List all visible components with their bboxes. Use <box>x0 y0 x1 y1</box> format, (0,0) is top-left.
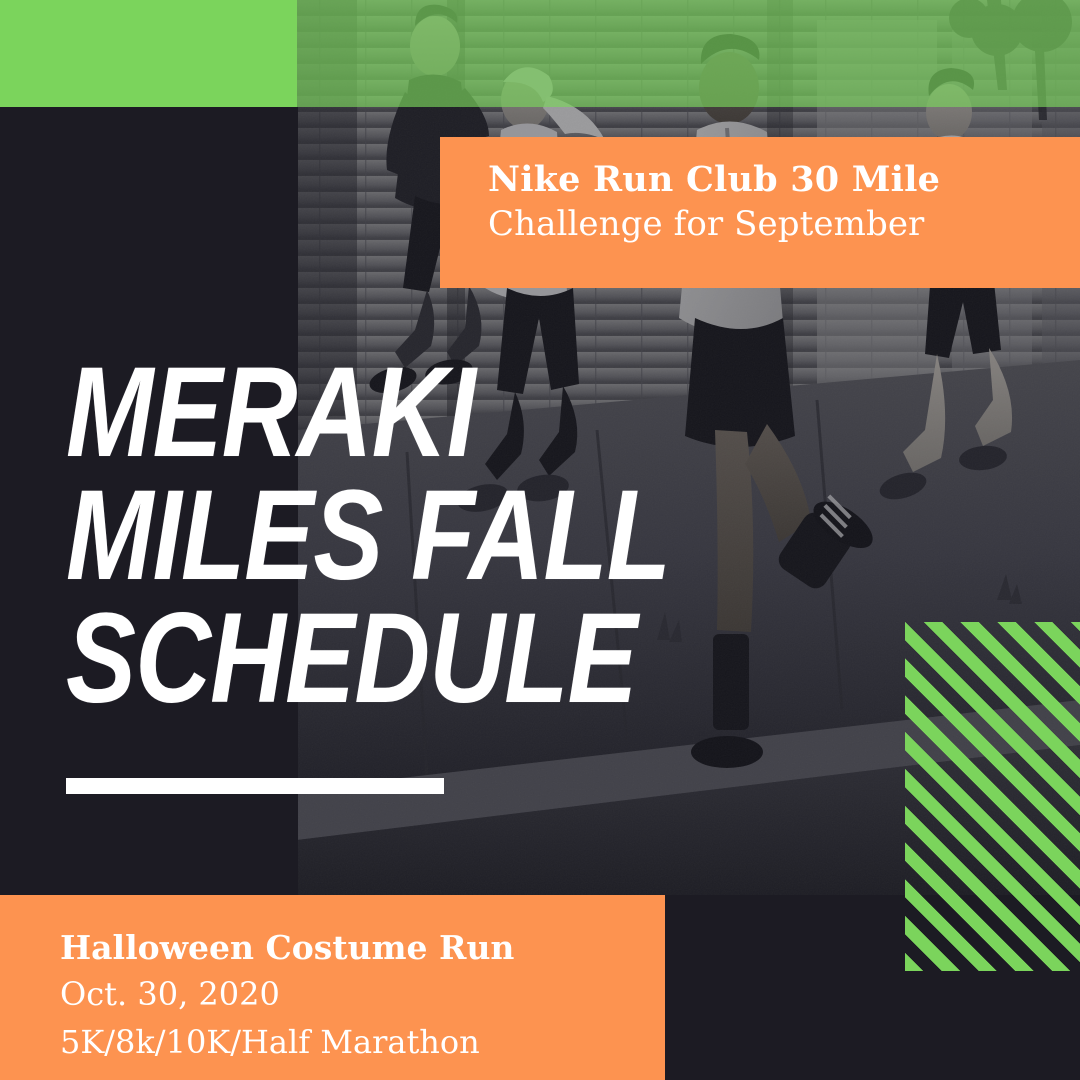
event-name: Halloween Costume Run <box>60 927 665 968</box>
title-underline-rule <box>66 778 444 794</box>
poster-canvas: Nike Run Club 30 Mile Challenge for Sept… <box>0 0 1080 1080</box>
green-diagonal-stripes-block <box>905 622 1080 971</box>
page-title-line-2: MILES FALL <box>66 475 640 598</box>
challenge-banner-title: Nike Run Club 30 Mile <box>488 159 1080 200</box>
page-title-line-3: SCHEDULE <box>66 598 640 721</box>
green-accent-bar <box>0 0 297 107</box>
green-photo-tint-overlay <box>297 0 1080 107</box>
page-title-line-1: MERAKI <box>66 352 640 475</box>
event-info-block: Halloween Costume Run Oct. 30, 2020 5K/8… <box>0 895 665 1080</box>
page-title: MERAKI MILES FALL SCHEDULE <box>66 352 766 721</box>
challenge-banner-subtitle: Challenge for September <box>488 204 1080 245</box>
challenge-banner: Nike Run Club 30 Mile Challenge for Sept… <box>440 137 1080 288</box>
event-distances: 5K/8k/10K/Half Marathon <box>60 1022 665 1064</box>
event-date: Oct. 30, 2020 <box>60 974 665 1016</box>
